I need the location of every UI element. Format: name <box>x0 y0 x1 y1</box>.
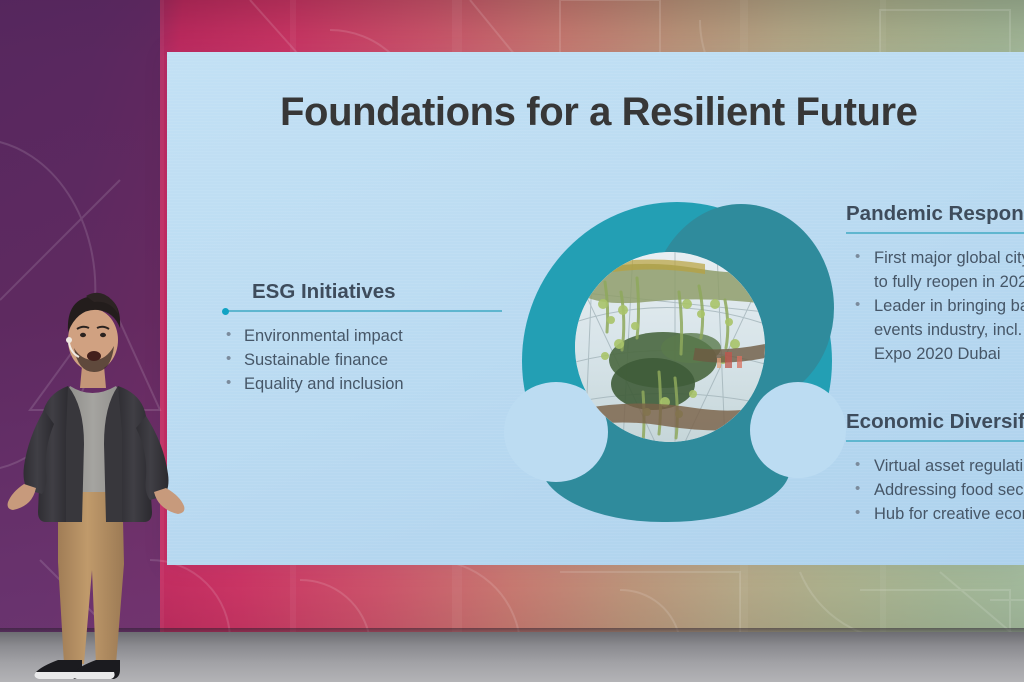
presenter-hand-left <box>8 484 36 510</box>
accent-dot-icon <box>222 308 229 315</box>
list-item: Sustainable finance <box>224 349 524 373</box>
stage-scene: Foundations for a Resilient Future ESG I… <box>0 0 1024 682</box>
economic-divider <box>846 440 1024 442</box>
list-item: Hub for creative economy <box>846 503 1024 527</box>
infographic-photo <box>575 252 765 442</box>
list-item-continuation: to fully reopen in 2020 <box>846 271 1024 295</box>
economic-bullet-list: Virtual asset regulation Addressing food… <box>846 455 1024 527</box>
list-item: Leader in bringing back <box>846 295 1024 319</box>
presenter-earpiece-icon <box>66 337 72 343</box>
presentation-slide: Foundations for a Resilient Future ESG I… <box>167 52 1024 565</box>
pandemic-heading: Pandemic Response <box>846 202 1024 226</box>
presenter-hand-right <box>154 488 184 514</box>
infographic-notch-right <box>750 382 846 478</box>
pandemic-bullet-list: First major global city to fully reopen … <box>846 247 1024 367</box>
list-item: First major global city <box>846 247 1024 271</box>
slide-title: Foundations for a Resilient Future <box>280 90 918 135</box>
esg-heading: ESG Initiatives <box>224 280 524 304</box>
list-item: Equality and inclusion <box>224 373 524 397</box>
list-item: Addressing food security <box>846 479 1024 503</box>
presenter-figure <box>0 282 210 682</box>
slide-block-economic-diversification: Economic Diversification Virtual asset r… <box>846 410 1024 527</box>
esg-divider <box>224 310 502 312</box>
list-item-continuation: events industry, incl. <box>846 319 1024 343</box>
pandemic-divider <box>846 232 1024 234</box>
list-item: Virtual asset regulation <box>846 455 1024 479</box>
circular-infographic <box>500 192 845 537</box>
slide-block-pandemic-response: Pandemic Response First major global cit… <box>846 202 1024 367</box>
list-item: Environmental impact <box>224 325 524 349</box>
slide-block-esg: ESG Initiatives Environmental impact Sus… <box>224 280 524 397</box>
esg-bullet-list: Environmental impact Sustainable finance… <box>224 325 524 397</box>
list-item-continuation: Expo 2020 Dubai <box>846 343 1024 367</box>
economic-heading: Economic Diversification <box>846 410 1024 434</box>
